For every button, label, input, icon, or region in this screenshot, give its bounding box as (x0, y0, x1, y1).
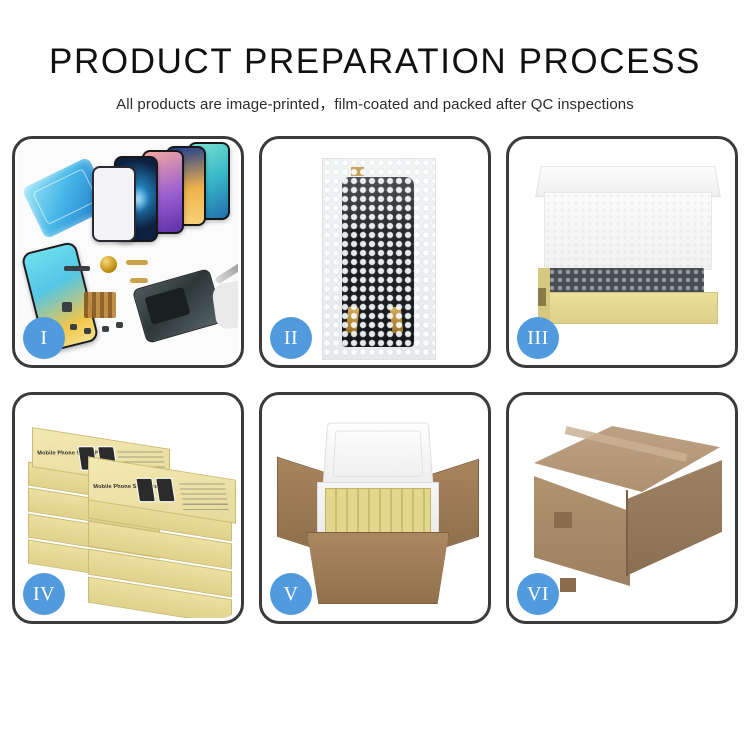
product-preparation-infographic: PRODUCT PREPARATION PROCESS All products… (0, 0, 750, 750)
small-part-5 (62, 302, 72, 312)
earpiece-mesh (64, 266, 90, 271)
carton-tape-tab-upper (554, 512, 572, 528)
styrofoam-lid (322, 423, 433, 487)
step-badge-4: IV (23, 573, 65, 615)
page-title: PRODUCT PREPARATION PROCESS (0, 0, 750, 81)
box-print-phone-icon (135, 478, 156, 502)
bubble-texture (323, 159, 435, 359)
yellow-boxes-inside (325, 488, 431, 534)
carton-vertical-seam (626, 490, 628, 576)
step-badge-6: VI (517, 573, 559, 615)
step-panel-4: Mobile Phone Spare Parts Mobile Phone Sp… (12, 392, 244, 624)
step-panel-6: VI (506, 392, 738, 624)
step-badge-5: V (270, 573, 312, 615)
carton-left-face (534, 476, 630, 586)
flex-cable-2 (130, 278, 148, 283)
small-part-2 (84, 328, 91, 334)
speaker-component (100, 256, 117, 273)
step-badge-3: III (517, 317, 559, 359)
flex-cable-1 (126, 260, 148, 265)
step-panel-2: II (259, 136, 491, 368)
box-front-wall (538, 292, 718, 324)
step-panel-1: I (12, 136, 244, 368)
process-steps-grid: I II (12, 136, 738, 624)
small-part-1 (70, 324, 77, 330)
step-panel-3: III (506, 136, 738, 368)
box-corner-notch (538, 288, 546, 306)
step-panel-5: V (259, 392, 491, 624)
small-part-3 (102, 326, 109, 332)
box-print-text-lines-2 (179, 483, 229, 509)
small-part-4 (116, 322, 123, 328)
box-print-phone-icon (155, 478, 176, 502)
chip-grid-component (84, 292, 116, 318)
page-subtitle: All products are image-printed，film-coat… (0, 81, 750, 114)
step-badge-2: II (270, 317, 312, 359)
carton-tape-tab-lower (560, 578, 576, 592)
carton-body (307, 532, 449, 604)
foam-sheet (544, 192, 712, 270)
header: PRODUCT PREPARATION PROCESS All products… (0, 0, 750, 114)
bubble-wrap-bag (322, 158, 436, 360)
box-print-images-2 (135, 478, 175, 502)
phone-white-glass (92, 166, 136, 242)
step-badge-1: I (23, 317, 65, 359)
